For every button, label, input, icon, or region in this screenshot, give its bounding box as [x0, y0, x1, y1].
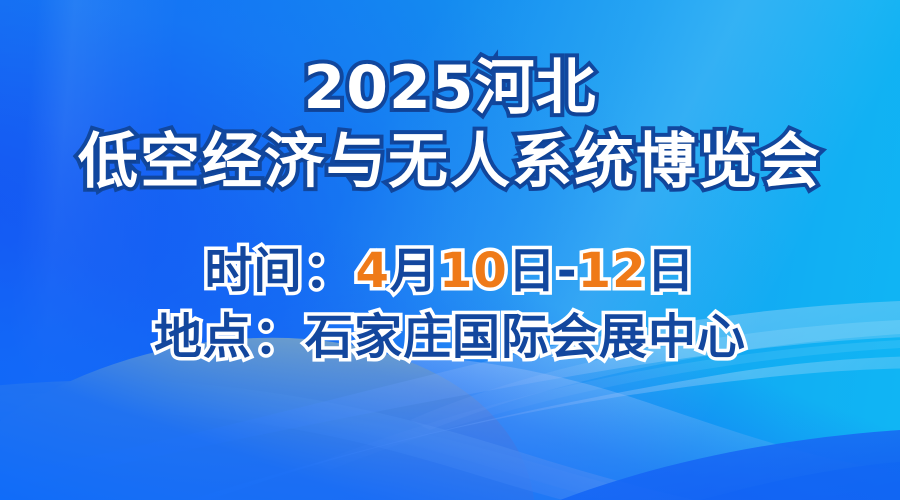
- date-range-dash: -: [557, 243, 578, 299]
- date-colon: ：: [303, 243, 356, 299]
- date-end-day: 12: [578, 243, 647, 299]
- date-label: 时间: [204, 243, 302, 299]
- banner-info-block: 时间：4月10日-12日 地点：石家庄国际会展中心: [154, 246, 746, 364]
- venue-value: 石家庄国际会展中心: [305, 309, 746, 365]
- date-end-day-unit: 日: [646, 243, 695, 299]
- date-start-day-unit: 日: [508, 243, 557, 299]
- banner-content: 2025河北 低空经济与无人系统博览会 时间：4月10日-12日 地点：石家庄国…: [0, 0, 900, 500]
- banner-title-block: 2025河北 低空经济与无人系统博览会: [78, 58, 822, 192]
- banner-title-line-2: 低空经济与无人系统博览会: [78, 132, 822, 192]
- date-month-unit: 月: [390, 243, 439, 299]
- venue-colon: ：: [252, 309, 305, 365]
- date-month-number: 4: [356, 243, 390, 299]
- event-date-line: 时间：4月10日-12日: [154, 246, 746, 298]
- date-start-day: 10: [439, 243, 508, 299]
- event-venue-line: 地点：石家庄国际会展中心: [154, 312, 746, 364]
- banner-title-line-1: 2025河北: [78, 58, 822, 118]
- event-banner: 2025河北 低空经济与无人系统博览会 时间：4月10日-12日 地点：石家庄国…: [0, 0, 900, 500]
- venue-label: 地点: [154, 309, 252, 365]
